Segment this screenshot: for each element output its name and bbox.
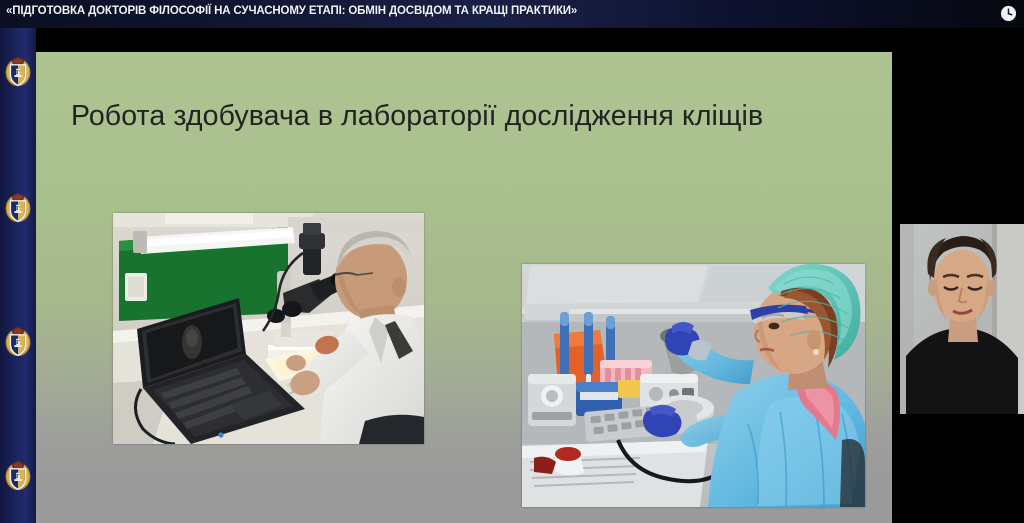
svg-text:Г: Г <box>16 340 20 346</box>
presentation-slide[interactable]: Робота здобувача в лабораторії досліджен… <box>36 52 892 523</box>
university-crest-icon: Г <box>4 324 32 358</box>
branding-sidebar: Г Г Г <box>0 28 36 523</box>
svg-text:Г: Г <box>16 206 20 212</box>
svg-text:Г: Г <box>16 70 20 76</box>
clock-icon[interactable] <box>999 4 1018 23</box>
stage-letterbox-right <box>892 28 1024 212</box>
stage-letterbox-top <box>36 28 892 52</box>
window-title: «ПІДГОТОВКА ДОКТОРІВ ФІЛОСОФІЇ НА СУЧАСН… <box>6 5 577 17</box>
photo-microscope <box>113 213 424 444</box>
webcam-participant-panel[interactable] <box>900 212 1024 523</box>
university-crest-icon: Г <box>4 190 32 224</box>
slide-title: Робота здобувача в лабораторії досліджен… <box>71 100 861 133</box>
webcam-video-feed[interactable] <box>900 224 1024 414</box>
window-titlebar: «ПІДГОТОВКА ДОКТОРІВ ФІЛОСОФІЇ НА СУЧАСН… <box>0 0 1024 28</box>
video-conference-window: «ПІДГОТОВКА ДОКТОРІВ ФІЛОСОФІЇ НА СУЧАСН… <box>0 0 1024 523</box>
university-crest-icon: Г <box>4 458 32 492</box>
svg-text:Г: Г <box>16 474 20 480</box>
university-crest-icon: Г <box>4 54 32 88</box>
photo-pcr <box>522 264 865 507</box>
